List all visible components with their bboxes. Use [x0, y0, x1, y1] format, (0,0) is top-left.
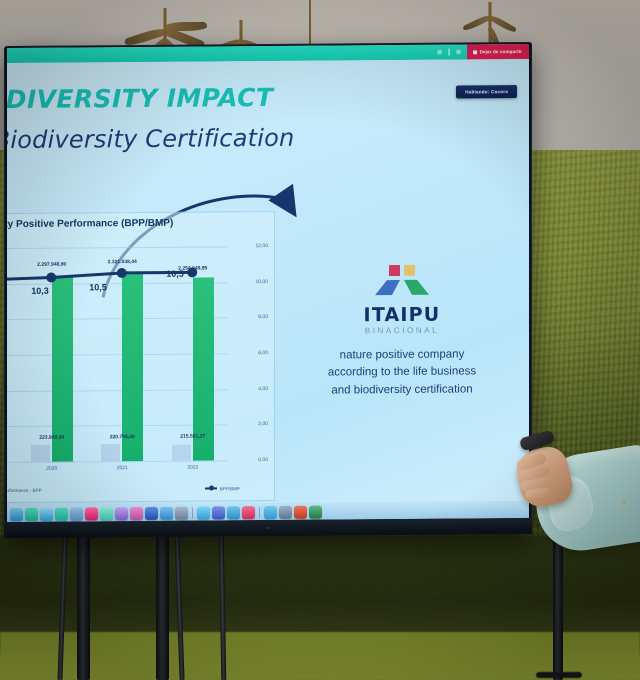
itaipu-caption: nature positive company according to the…: [307, 346, 497, 399]
speaker-name-badge: Hablando: Cocora: [456, 85, 517, 98]
dock-icon-teams[interactable]: [212, 506, 225, 519]
dock-icon-powerpoint[interactable]: [294, 505, 307, 518]
dock-icon-contacts[interactable]: [70, 507, 83, 520]
y-tick-4: 4,00: [258, 386, 268, 392]
cuff-button: [622, 500, 626, 504]
dock-icon-zoom[interactable]: [242, 506, 255, 519]
bar-bpp-2022[interactable]: [172, 444, 191, 461]
x-tick-2021: 2021: [87, 465, 158, 478]
caption-line-2: according to the life business: [307, 363, 497, 382]
chart-bars: 2.237.626,37 219.637,00 2.297.948,90 223…: [7, 246, 228, 462]
legend-label-bpp: Biodiversity Positive Performance - BPP: [7, 487, 42, 493]
monitor-screen: Dejar de compartir BIODIVERSITY IMPACT &…: [7, 44, 529, 522]
value-label-bmp-2020: 2.297.948,90: [37, 261, 66, 267]
presentation-slide[interactable]: BIODIVERSITY IMPACT & Biodiversity Certi…: [7, 59, 529, 522]
stop-sharing-label: Dejar de compartir: [480, 49, 522, 54]
dock-icon-photos[interactable]: [130, 506, 143, 519]
slide-title: BIODIVERSITY IMPACT: [7, 83, 273, 114]
stand-pole-center: [156, 534, 169, 680]
y-tick-10: 10,00: [255, 279, 268, 285]
y-tick-8: 8,00: [258, 314, 268, 320]
dock-icon-appstore[interactable]: [160, 506, 173, 519]
caption-line-3: and biodiversity certification: [307, 381, 497, 400]
legend-item-ratio[interactable]: BPP/BMP: [205, 486, 240, 491]
stop-sharing-button[interactable]: Dejar de compartir: [467, 44, 529, 59]
dock-separator: [192, 507, 193, 518]
dock-icon-terminal[interactable]: [279, 505, 292, 518]
share-controls[interactable]: [437, 48, 467, 55]
photo-scene: Dejar de compartir BIODIVERSITY IMPACT &…: [0, 0, 640, 680]
slide-subtitle: & Biodiversity Certification: [7, 124, 294, 155]
legend-label-ratio: BPP/BMP: [220, 486, 240, 491]
share-menu-icon[interactable]: [456, 49, 461, 54]
dock-icon-finder[interactable]: [10, 507, 23, 520]
bar-group-2021[interactable]: 2.321.038,44 220.798,00: [87, 247, 158, 462]
stand-pole-left: [77, 534, 90, 680]
value-label-bpp-2020: 223.849,00: [39, 434, 64, 440]
dock-icon-podcasts[interactable]: [115, 507, 128, 520]
share-dot-icon[interactable]: [437, 50, 442, 55]
finger-pinky: [525, 487, 551, 499]
bar-bpp-2020[interactable]: [31, 444, 50, 461]
dock-icon-tv[interactable]: [145, 506, 158, 519]
dock-icon-settings[interactable]: [175, 506, 188, 519]
chart-title: Biodiversity Positive Performance (BPP/B…: [7, 218, 173, 231]
itaipu-logo-icon: [371, 265, 433, 305]
value-label-bpp-2022: 215.581,27: [180, 433, 205, 439]
dock-icon-chrome[interactable]: [197, 506, 210, 519]
dock-icon-notes[interactable]: [100, 507, 113, 520]
dock-icon-globe[interactable]: [264, 505, 277, 518]
x-tick-2020: 2020: [17, 465, 88, 478]
monitor-brand-logo: —: [266, 525, 271, 530]
x-tick-2022: 2022: [158, 464, 229, 477]
dock-icon-safari[interactable]: [40, 507, 53, 520]
itaipu-logo-mark: [371, 265, 433, 305]
itaipu-submark: BINACIONAL: [307, 325, 497, 335]
y-tick-0: 0,00: [258, 457, 268, 463]
y-tick-6: 6,00: [258, 350, 268, 356]
stop-square-icon: [473, 50, 477, 54]
share-pause-icon[interactable]: [448, 49, 450, 56]
ratio-label-2021: 10,5: [89, 282, 107, 292]
y-tick-2: 2,00: [258, 421, 268, 427]
ratio-label-2020: 10,3: [31, 286, 49, 296]
itaipu-block: ITAIPU BINACIONAL nature positive compan…: [307, 264, 497, 399]
bpp-bmp-chart[interactable]: Biodiversity Positive Performance (BPP/B…: [7, 211, 275, 504]
chart-plot-area: 12,00 10,00 8,00 6,00 4,00 2,00 0,00 58: [7, 246, 228, 462]
chart-legend: Biodiversity Positive Performance - BPP …: [7, 482, 254, 496]
presenter: [514, 404, 640, 634]
chart-x-axis: 2019 2020 2021 2022: [7, 464, 228, 478]
caption-line-1: nature positive company: [307, 346, 497, 365]
y-tick-12: 12,00: [255, 243, 268, 249]
bar-group-2019[interactable]: 2.237.626,37 219.637,00: [7, 248, 17, 463]
dock-icon-mail[interactable]: [55, 507, 68, 520]
bar-bpp-2021[interactable]: [101, 444, 120, 461]
dock-separator-2: [259, 507, 260, 518]
x-tick-2019: 2019: [7, 466, 17, 479]
dock-icon-music[interactable]: [85, 507, 98, 520]
ratio-label-2022: 10,5: [166, 269, 184, 279]
legend-item-bpp[interactable]: Biodiversity Positive Performance - BPP: [7, 487, 42, 493]
display-monitor: Dejar de compartir BIODIVERSITY IMPACT &…: [4, 42, 532, 538]
bar-group-2020[interactable]: 2.297.948,90 223.849,00: [17, 247, 88, 462]
value-label-bmp-2021: 2.321.038,44: [108, 259, 137, 265]
legend-swatch-ratio: [205, 487, 217, 489]
dock-icon-slides[interactable]: [227, 506, 240, 519]
itaipu-wordmark: ITAIPU: [307, 305, 497, 325]
stand-foot-right: [536, 672, 582, 678]
dock-icon-excel[interactable]: [309, 505, 322, 518]
dock-icon-launchpad[interactable]: [25, 507, 38, 520]
value-label-bpp-2021: 220.798,00: [110, 434, 135, 440]
